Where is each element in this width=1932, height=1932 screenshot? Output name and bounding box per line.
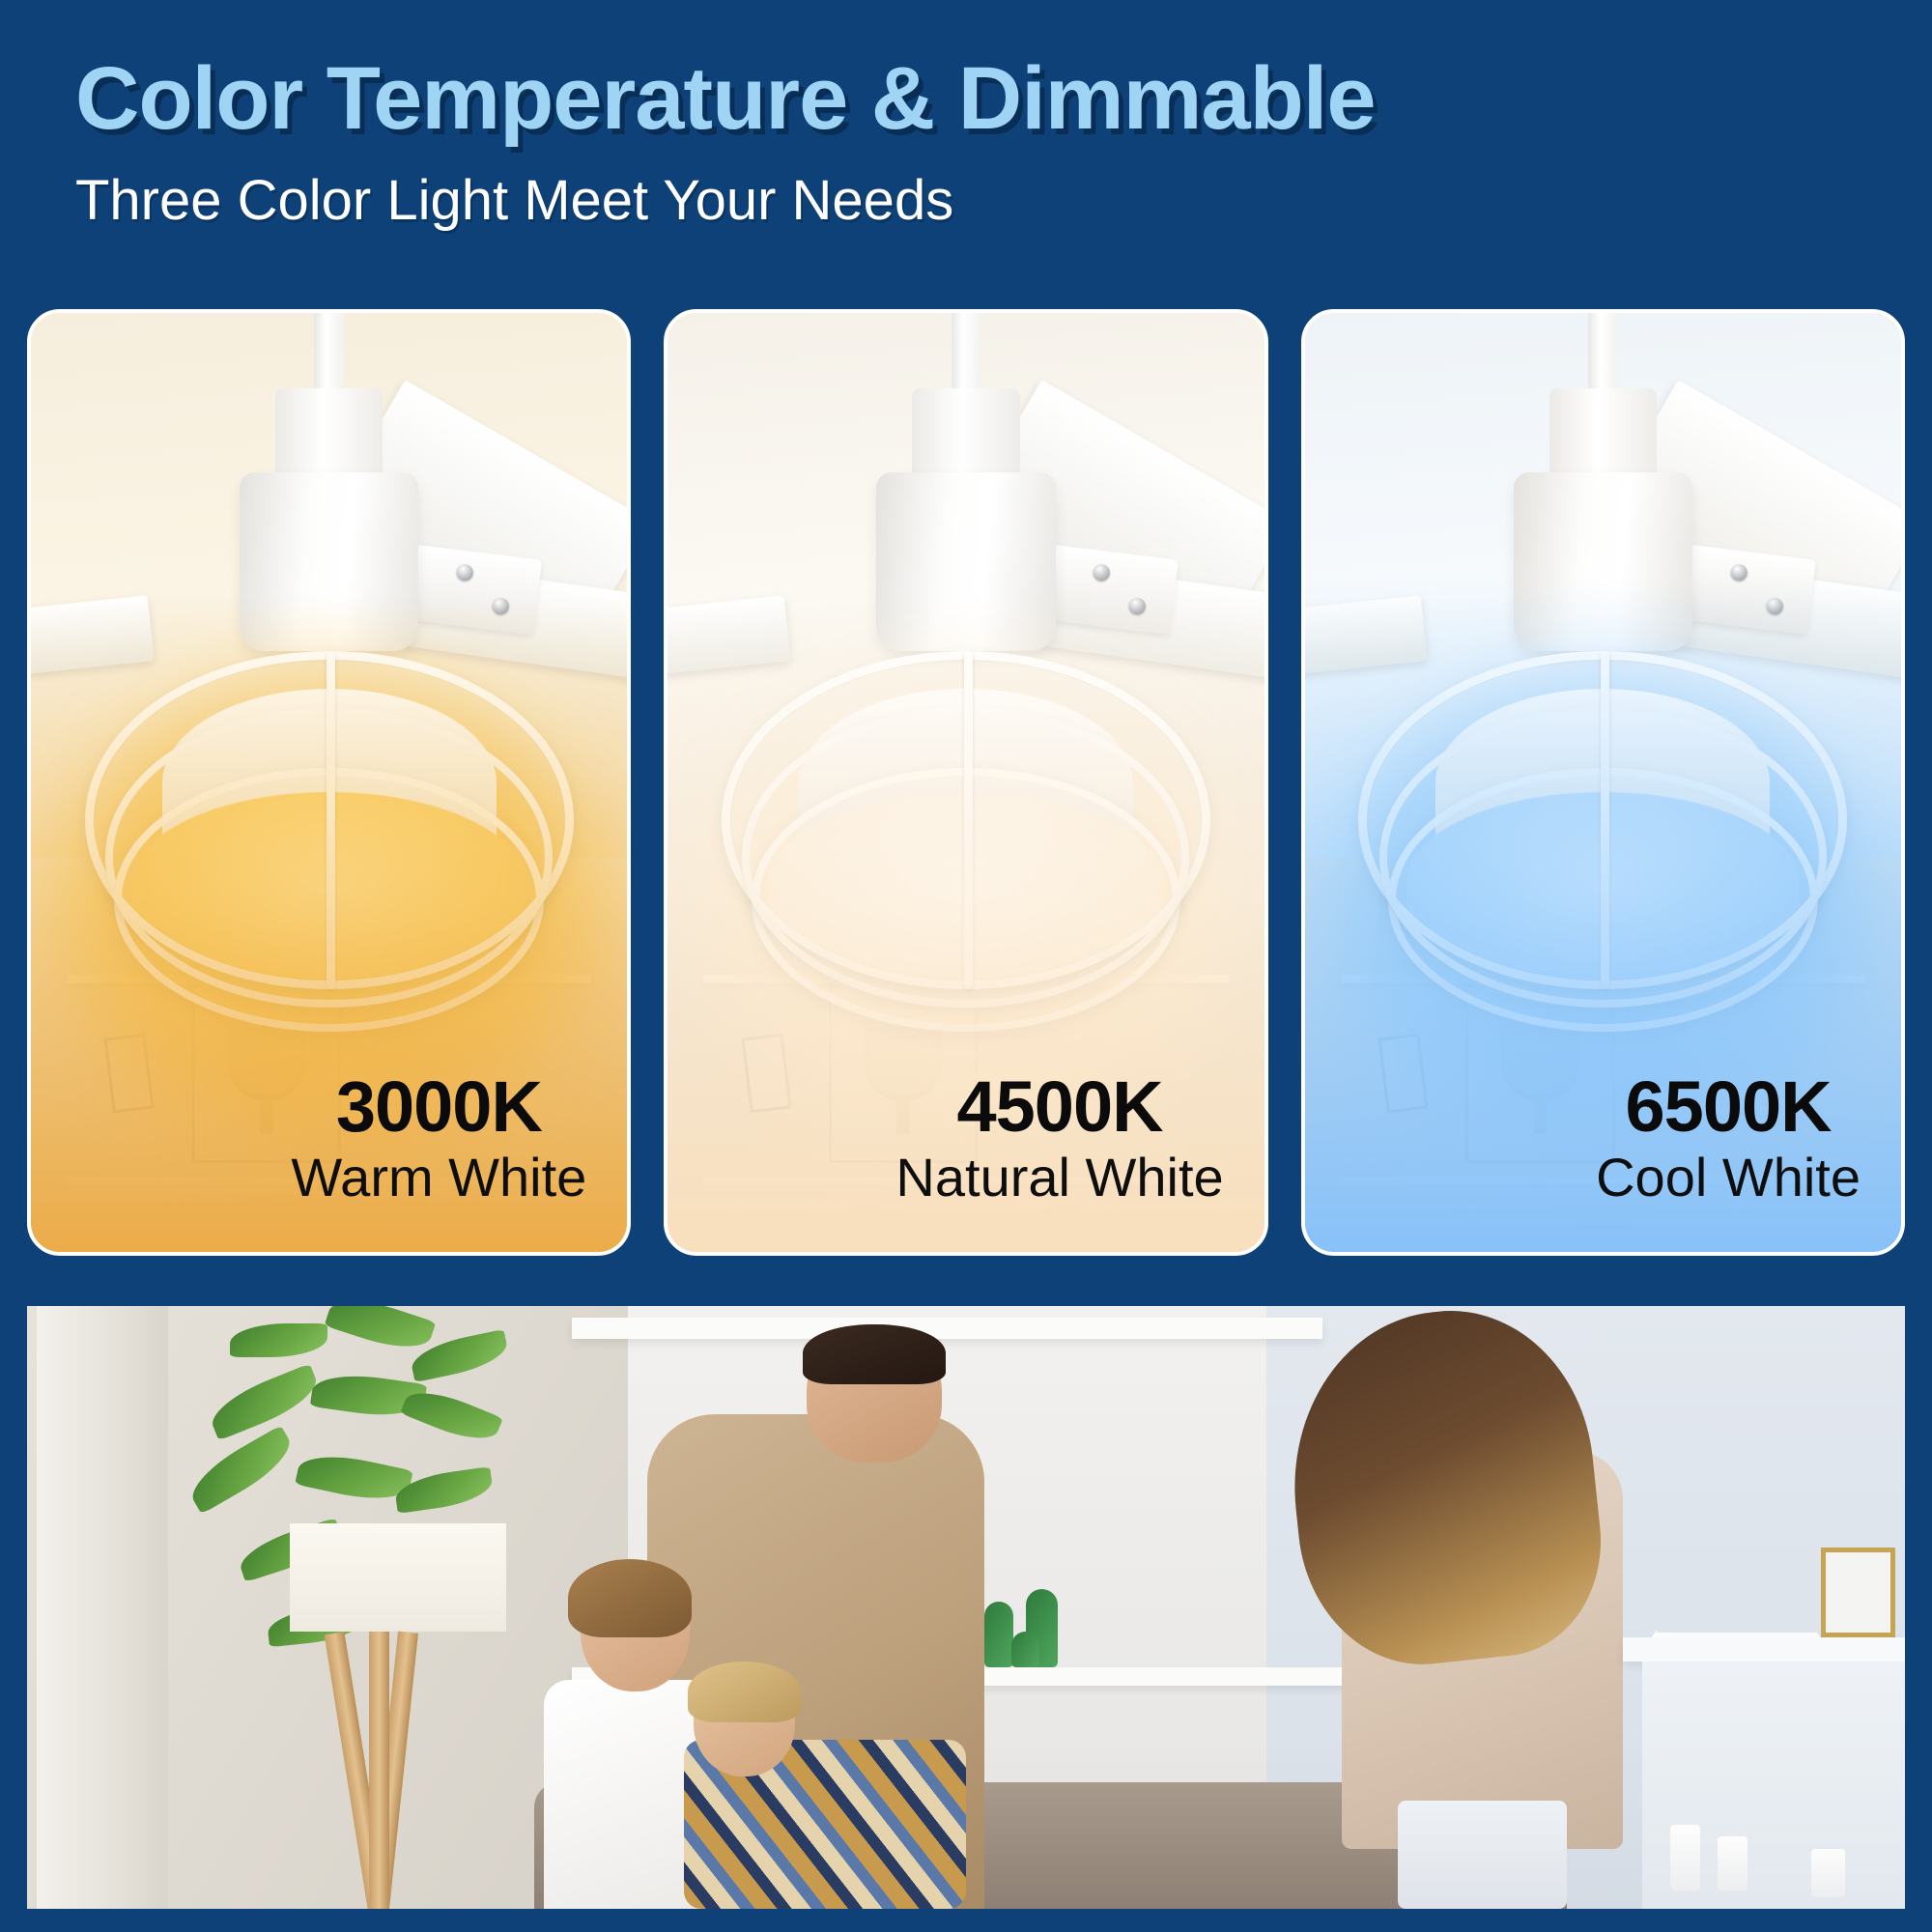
- girl-hair: [568, 1559, 692, 1637]
- kelvin-value: 6500K: [1596, 1069, 1861, 1145]
- bracket-screw: [1765, 596, 1783, 614]
- fan-motor-housing: [1514, 472, 1692, 651]
- page-header: Color Temperature & Dimmable Three Color…: [0, 0, 1932, 233]
- color-name: Warm White: [291, 1148, 586, 1207]
- page-subtitle: Three Color Light Meet Your Needs: [75, 168, 1932, 233]
- color-card-warm-white[interactable]: 3000K Warm White: [27, 309, 631, 1256]
- bracket-screw: [1128, 596, 1147, 614]
- boy-hair: [688, 1662, 801, 1721]
- window-curtain: [37, 1306, 168, 1909]
- page-title: Color Temperature & Dimmable: [75, 54, 1932, 143]
- man-hair: [803, 1324, 946, 1384]
- bracket-screw: [1730, 563, 1748, 582]
- candle-decor: [1811, 1849, 1845, 1897]
- fireplace-mantel-top: [1623, 1637, 1905, 1662]
- bracket-screw: [492, 596, 510, 614]
- color-temperature-card-row: 3000K Warm White: [27, 309, 1905, 1256]
- kelvin-value: 3000K: [291, 1069, 586, 1145]
- bracket-screw: [456, 563, 474, 582]
- color-card-natural-white[interactable]: 4500K Natural White: [664, 309, 1267, 1256]
- bottom-navy-strip: [0, 1909, 1932, 1932]
- framed-picture: [1821, 1548, 1896, 1638]
- cactus-decor: [984, 1602, 1012, 1668]
- bracket-screw: [1093, 563, 1111, 582]
- candle-decor: [1670, 1825, 1700, 1891]
- woman-trousers: [1398, 1801, 1567, 1909]
- candle-decor: [1718, 1836, 1747, 1890]
- color-name: Natural White: [895, 1148, 1223, 1207]
- upper-wall-shelf: [572, 1318, 1323, 1338]
- lifestyle-photo: [27, 1306, 1905, 1909]
- floor-lamp-shade: [290, 1523, 506, 1632]
- fan-motor-housing: [876, 472, 1055, 651]
- color-card-cool-white[interactable]: 6500K Cool White: [1301, 309, 1905, 1256]
- cage-vertical-rib: [1601, 651, 1609, 989]
- cage-vertical-rib: [964, 651, 973, 989]
- cactus-decor: [1011, 1632, 1039, 1667]
- card-caption-warm: 3000K Warm White: [291, 1069, 586, 1207]
- card-caption-natural: 4500K Natural White: [895, 1069, 1223, 1207]
- floor-lamp-leg: [369, 1632, 389, 1909]
- fan-motor-housing: [240, 472, 418, 651]
- cage-vertical-rib: [327, 651, 335, 989]
- kelvin-value: 4500K: [895, 1069, 1223, 1145]
- card-caption-cool: 6500K Cool White: [1596, 1069, 1861, 1207]
- color-name: Cool White: [1596, 1148, 1861, 1207]
